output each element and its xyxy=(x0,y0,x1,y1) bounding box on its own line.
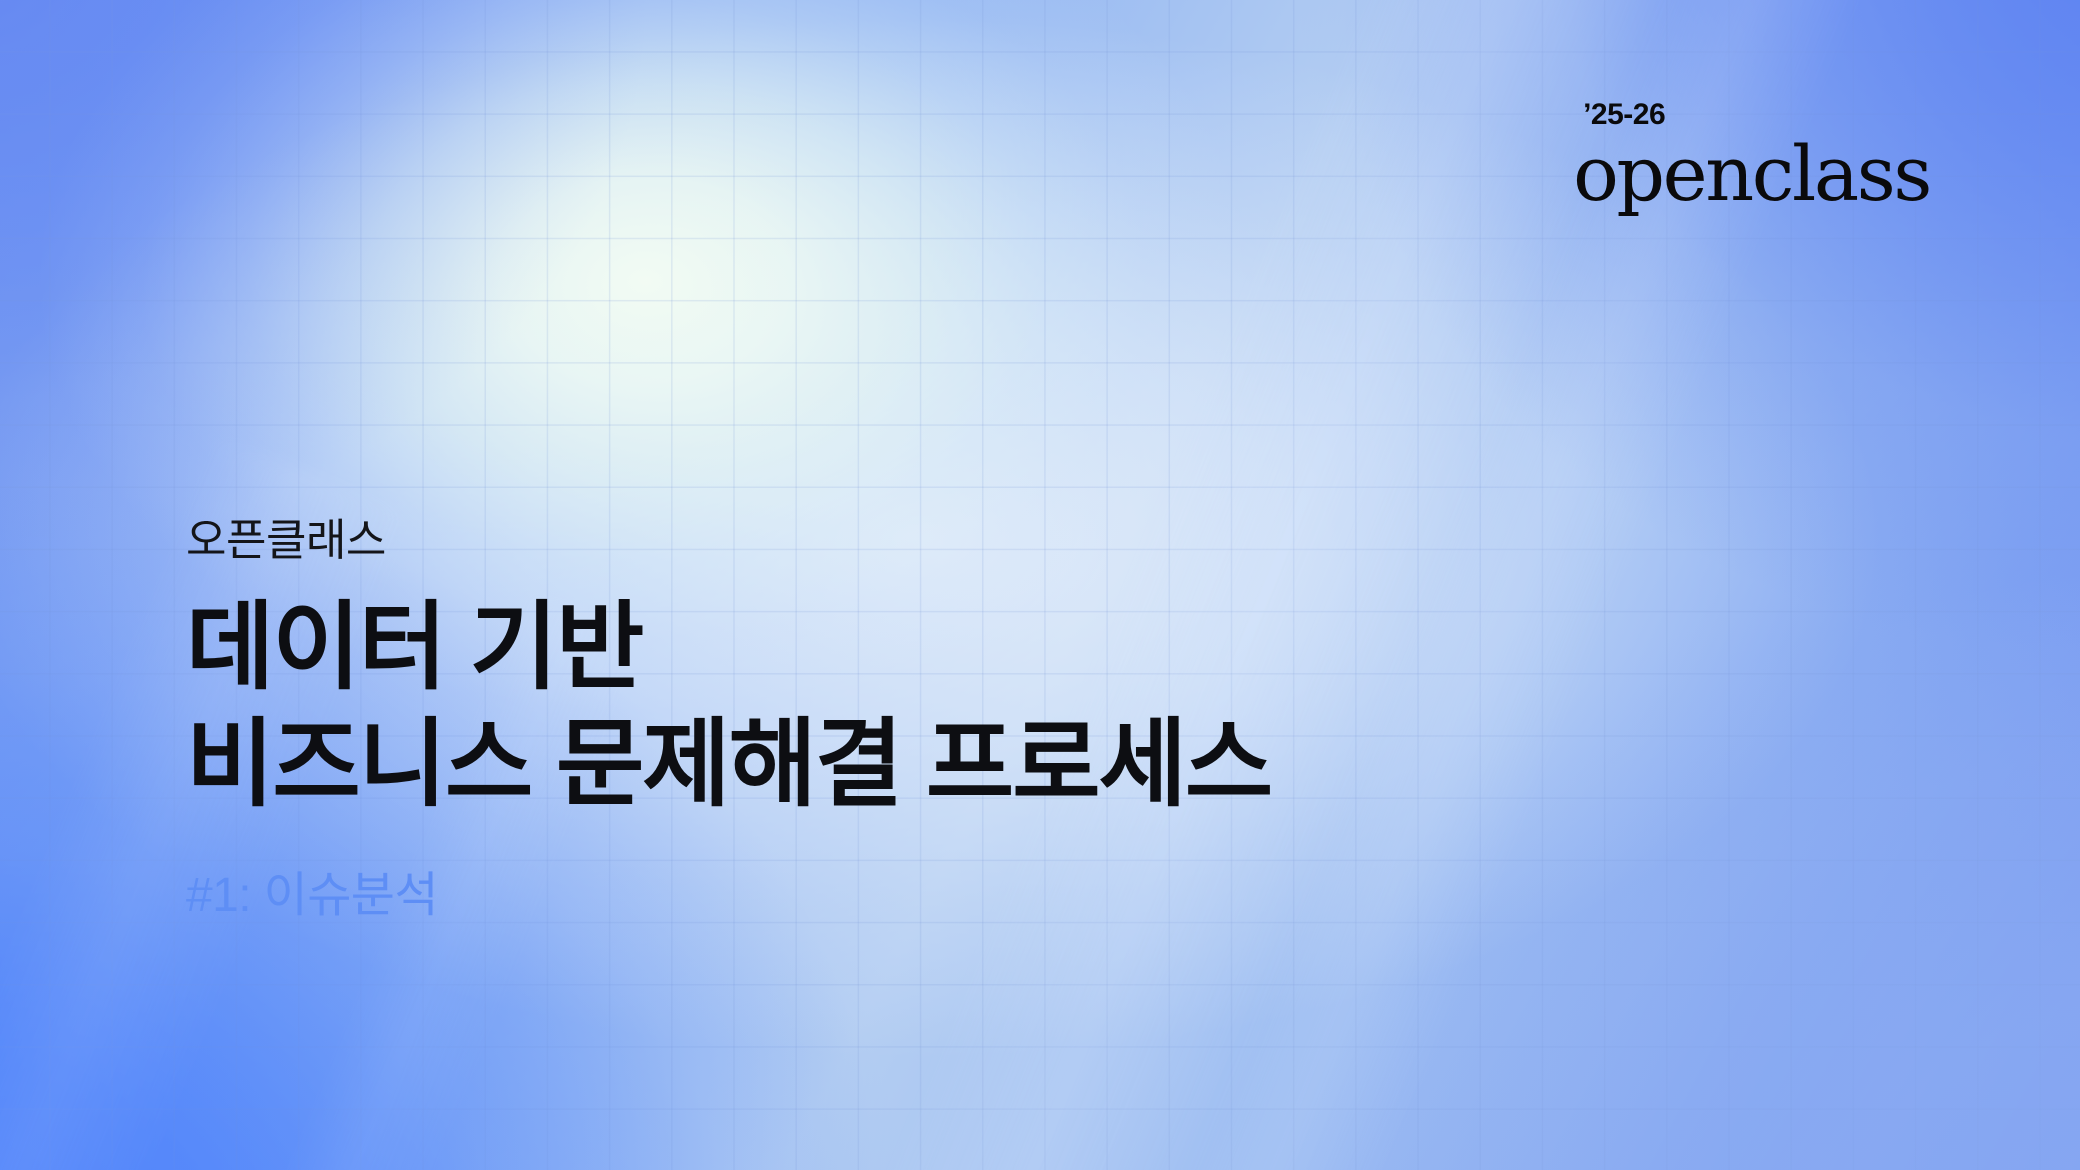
headline-line-2: 비즈니스 문제해결 프로세스 xyxy=(186,706,1271,823)
title-block: 오픈클래스 데이터 기반 비즈니스 문제해결 프로세스 #1: 이슈분석 xyxy=(186,515,1271,925)
brand-wordmark: openclass xyxy=(1573,136,1930,212)
subtitle-label: #1: 이슈분석 xyxy=(186,855,1271,925)
eyebrow-label: 오픈클래스 xyxy=(186,515,1271,567)
page-title: 데이터 기반 비즈니스 문제해결 프로세스 xyxy=(186,589,1271,823)
title-slide: ’25-26 openclass 오픈클래스 데이터 기반 비즈니스 문제해결 … xyxy=(0,0,2080,1170)
brand-year-label: ’25-26 xyxy=(1583,100,1930,130)
brand-logo: ’25-26 openclass xyxy=(1573,100,1930,212)
headline-line-1: 데이터 기반 xyxy=(186,589,1271,706)
